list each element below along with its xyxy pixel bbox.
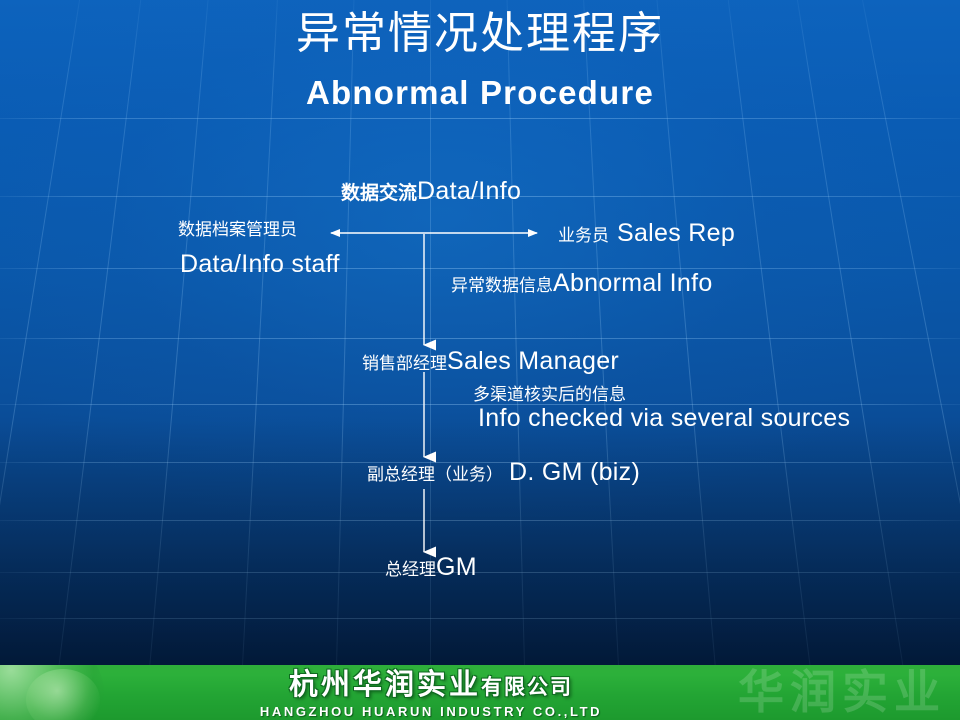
edge-label-abnormal-info-cn: 异常数据信息 xyxy=(451,278,553,296)
node-general-manager: 总经理GM xyxy=(385,554,477,580)
node-data-info-staff-cn: 数据档案管理员 xyxy=(178,222,297,240)
edge-label-checked-info-text-cn: 多渠道核实后的信息 xyxy=(473,387,626,405)
node-sales-rep-label-en: Sales Rep xyxy=(617,220,735,246)
edge-label-data-exchange-en: Data/Info xyxy=(417,178,521,204)
edge-label-abnormal-info: 异常数据信息Abnormal Info xyxy=(451,270,713,296)
company-name-chinese: 杭州华润实业有限公司 xyxy=(196,667,666,704)
company-name-english: HANGZHOU HUARUN INDUSTRY CO.,LTD xyxy=(196,704,666,720)
node-sales-manager: 销售部经理Sales Manager xyxy=(362,348,619,374)
edge-label-checked-info-text-en: Info checked via several sources xyxy=(478,405,850,431)
node-deputy-gm-label-cn: 副总经理（业务） xyxy=(367,467,503,485)
company-name-chinese-main: 杭州华润实业 xyxy=(289,667,481,701)
node-deputy-gm: 副总经理（业务）D. GM (biz) xyxy=(367,459,640,485)
company-logo: 杭州华润实业有限公司 HANGZHOU HUARUN INDUSTRY CO.,… xyxy=(196,667,666,720)
edge-label-abnormal-info-en: Abnormal Info xyxy=(553,270,713,296)
node-general-manager-label-cn: 总经理 xyxy=(385,562,436,580)
page-title-chinese: 异常情况处理程序 xyxy=(0,8,960,60)
node-sales-rep: 业务员Sales Rep xyxy=(558,220,735,246)
company-name-chinese-suffix: 有限公司 xyxy=(481,675,573,699)
edge-label-checked-info-cn: 多渠道核实后的信息 xyxy=(473,387,626,405)
node-sales-manager-label-en: Sales Manager xyxy=(447,348,619,374)
node-data-info-staff-en: Data/Info staff xyxy=(180,251,340,277)
footer-logo-bar: 华润实业 杭州华润实业有限公司 HANGZHOU HUARUN INDUSTRY… xyxy=(0,665,960,720)
node-data-info-staff-label-en: Data/Info staff xyxy=(180,251,340,277)
footer-watermark: 华润实业 xyxy=(738,665,946,719)
node-general-manager-label-en: GM xyxy=(436,554,477,580)
node-sales-manager-label-cn: 销售部经理 xyxy=(362,356,447,374)
node-data-info-staff-label-cn: 数据档案管理员 xyxy=(178,222,297,240)
page-title-english: Abnormal Procedure xyxy=(0,72,960,114)
edge-label-checked-info-en: Info checked via several sources xyxy=(478,405,850,431)
edge-label-data-exchange: 数据交流Data/Info xyxy=(341,178,521,204)
slide-canvas: 异常情况处理程序 Abnormal Procedure 数据交流Data/Inf… xyxy=(0,0,960,720)
node-deputy-gm-label-en: D. GM (biz) xyxy=(509,459,640,485)
node-sales-rep-label-cn: 业务员 xyxy=(558,228,609,246)
edge-label-data-exchange-cn: 数据交流 xyxy=(341,184,417,204)
